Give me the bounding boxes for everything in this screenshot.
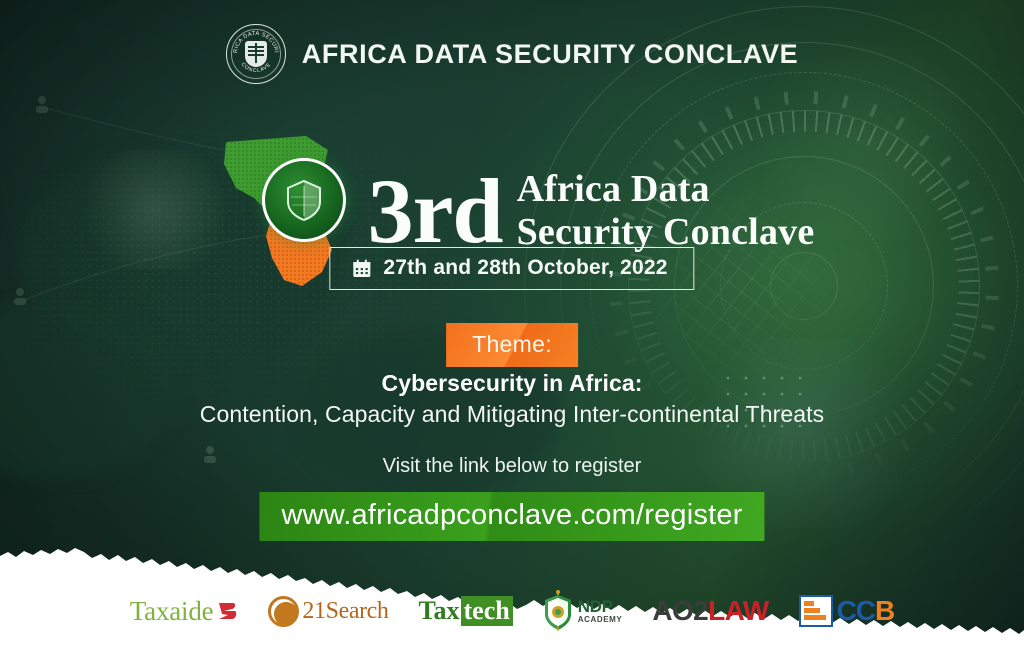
sponsor-logo-21search: 21Search — [268, 596, 388, 627]
shield-icon — [543, 590, 573, 632]
event-poster: AFRICA DATA SECURITY CONCLAVE AFRICA DAT… — [0, 0, 1024, 648]
sponsor-label-taxtech-b: tech — [461, 596, 513, 626]
register-url-text[interactable]: www.africadpconclave.com/register — [281, 499, 742, 531]
sponsor-logo-ao2law: AO2 LAW — [652, 595, 768, 627]
sponsor-logo-ndp-academy: NDP ACADEMY — [543, 590, 623, 632]
sponsor-logo-ccb: CCB — [799, 595, 895, 627]
hero-title-line-1: Africa Data — [517, 168, 815, 211]
hero-ordinal: 3rd — [368, 169, 503, 254]
sponsor-label-ccb-b: B — [875, 595, 894, 626]
shield-icon — [262, 158, 346, 242]
sponsor-label-taxaide: Taxaide — [130, 596, 214, 627]
sponsor-label-ccb: CCB — [837, 595, 895, 627]
sponsor-label-taxtech-a: Tax — [419, 596, 460, 626]
sponsor-label-ndp-main: NDP — [578, 598, 623, 615]
sponsor-label-law: LAW — [708, 595, 768, 627]
poster-header: AFRICA DATA SECURITY CONCLAVE AFRICA DAT… — [0, 24, 1024, 84]
header-title: AFRICA DATA SECURITY CONCLAVE — [302, 39, 798, 70]
theme-subtitle: Contention, Capacity and Mitigating Inte… — [0, 401, 1024, 428]
hero-title: Africa Data Security Conclave — [517, 168, 815, 255]
seal-crest-icon — [245, 41, 267, 67]
theme-badge: Theme: — [446, 323, 578, 367]
theme-badge-label: Theme: — [472, 331, 552, 357]
calendar-icon — [352, 259, 371, 278]
shield-glyph — [284, 178, 324, 222]
sponsor-label-ndp: NDP ACADEMY — [578, 598, 623, 624]
sponsor-label-ao2: AO2 — [652, 595, 708, 627]
sponsor-label-ndp-sub: ACADEMY — [578, 616, 623, 624]
sponsor-label-ccb-a: CC — [837, 595, 875, 626]
sponsor-logo-taxtech: Tax tech — [419, 596, 513, 626]
event-date-text: 27th and 28th October, 2022 — [383, 256, 667, 280]
event-date-badge: 27th and 28th October, 2022 — [329, 247, 694, 290]
sponsor-logo-taxaide: Taxaide — [130, 596, 239, 627]
hero-title-block: 3rd Africa Data Security Conclave — [368, 168, 815, 255]
ring-icon — [268, 596, 299, 627]
register-prompt: Visit the link below to register — [0, 455, 1024, 478]
swoosh-icon — [216, 599, 238, 623]
sponsor-label-21search: 21Search — [302, 598, 388, 625]
sponsor-logo-row: Taxaide 21Search Tax tech — [0, 582, 1024, 640]
conclave-seal-icon: AFRICA DATA SECURITY CONCLAVE — [226, 24, 286, 84]
theme-title: Cybersecurity in Africa: — [0, 370, 1024, 397]
bars-icon — [799, 595, 833, 627]
